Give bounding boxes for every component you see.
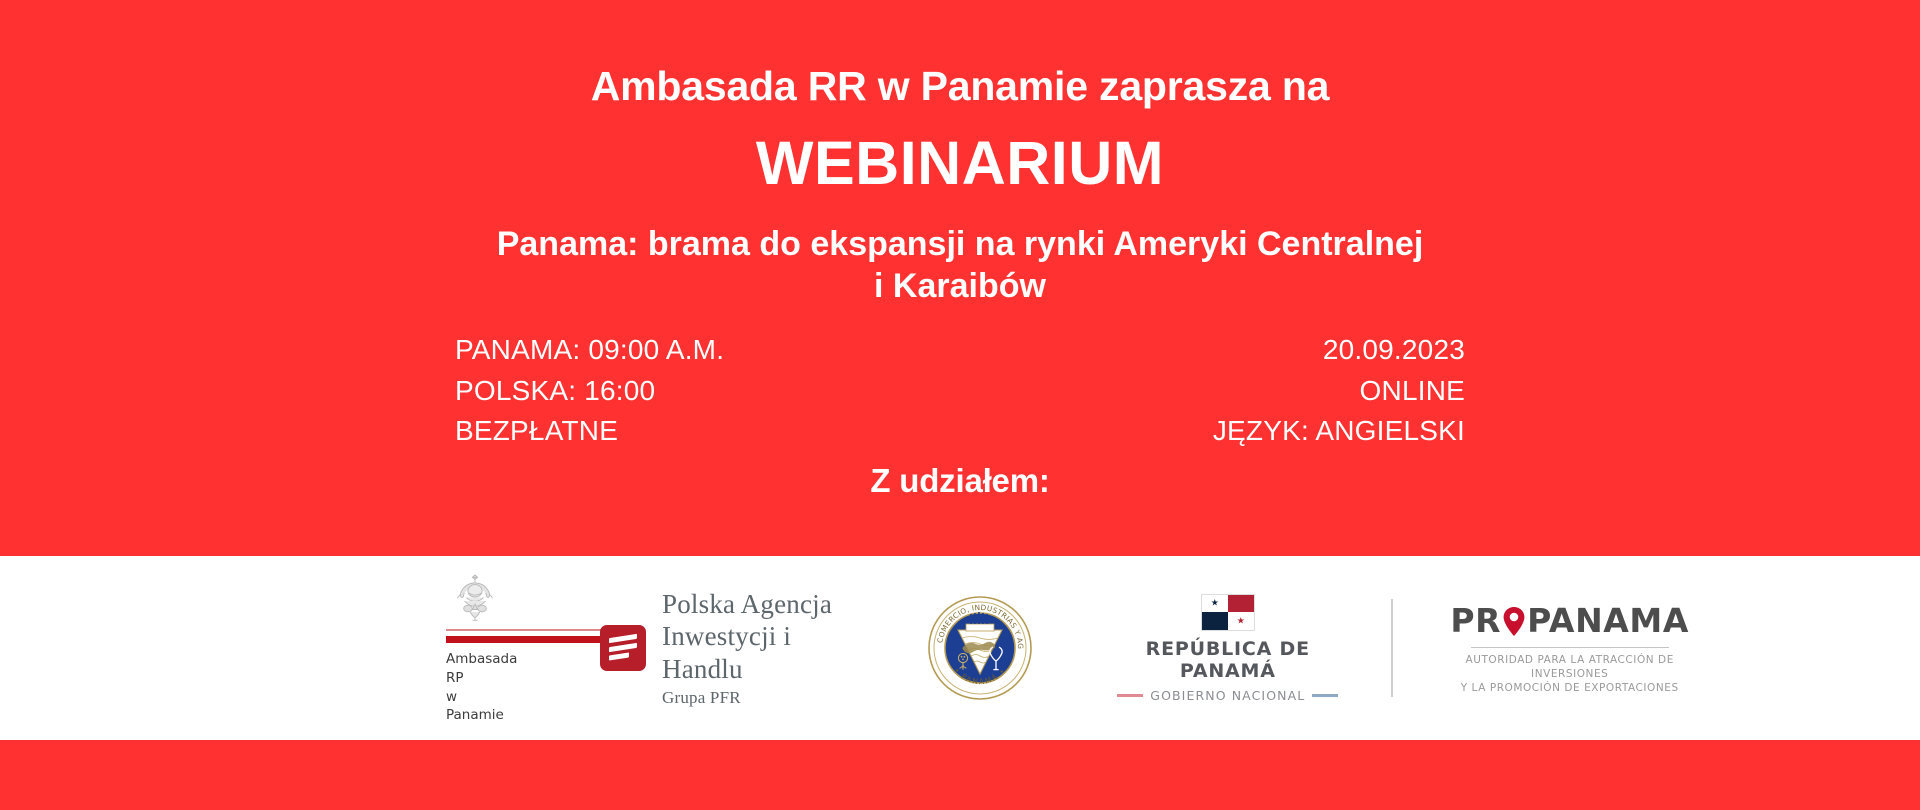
- detail-poland-time: POLSKA: 16:00: [455, 375, 724, 406]
- logo-divider: [1391, 599, 1393, 697]
- logo-propanama: PR PANAMA AUTORIDAD PARA LA ATRACCIÓN DE…: [1429, 601, 1710, 696]
- polish-eagle-icon: [452, 571, 498, 623]
- logo-embassy-of-poland: Ambasada RP w Panamie: [210, 571, 510, 725]
- detail-date: 20.09.2023: [1213, 334, 1465, 365]
- logo-republic-of-panama: ★ ★ REPÚBLICA DE PANAMÁ GOBIERNO NACIONA…: [1098, 594, 1357, 703]
- logo-chamber-of-commerce: CÁMARA DE COMERCIO, INDUSTRIAS Y AGRICUL…: [928, 596, 1032, 700]
- republic-subtitle-text: GOBIERNO NACIONAL: [1150, 688, 1305, 703]
- bottom-red-strip: [0, 740, 1920, 810]
- invitation-headline: Ambasada RR w Panamie zaprasza na: [460, 62, 1460, 110]
- detail-price: BEZPŁATNE: [455, 415, 724, 446]
- panama-flag-icon: ★ ★: [1201, 594, 1255, 631]
- paih-line1: Polska Agencja: [662, 588, 870, 620]
- paih-wordmark: Polska Agencja Inwestycji i Handlu Grupa…: [662, 588, 870, 708]
- map-pin-icon: [1502, 606, 1526, 637]
- embassy-caption-line1: Ambasada RP: [446, 650, 510, 687]
- detail-language: JĘZYK: ANGIELSKI: [1213, 415, 1465, 446]
- propanama-wordmark: PR PANAMA: [1429, 601, 1710, 640]
- event-details-right-column: 20.09.2023 ONLINE JĘZYK: ANGIELSKI: [1213, 334, 1465, 446]
- partner-logo-row: Ambasada RP w Panamie Polska Agencja Inw…: [210, 571, 1710, 725]
- propanama-tagline: AUTORIDAD PARA LA ATRACCIÓN DE INVERSION…: [1429, 653, 1710, 696]
- event-details: PANAMA: 09:00 A.M. POLSKA: 16:00 BEZPŁAT…: [455, 334, 1465, 446]
- event-details-left-column: PANAMA: 09:00 A.M. POLSKA: 16:00 BEZPŁAT…: [455, 334, 724, 446]
- with-participation-label: Z udziałem:: [0, 462, 1920, 500]
- chamber-seal-icon: CÁMARA DE COMERCIO, INDUSTRIAS Y AGRICUL…: [928, 596, 1032, 700]
- partner-logo-band: Ambasada RP w Panamie Polska Agencja Inw…: [0, 556, 1920, 740]
- hero-section: Ambasada RR w Panamie zaprasza na WEBINA…: [0, 0, 1920, 556]
- propanama-word-part1: PR: [1450, 601, 1501, 640]
- republic-subtitle: GOBIERNO NACIONAL: [1098, 688, 1357, 703]
- propanama-rule: [1471, 647, 1669, 648]
- logo-paih: Polska Agencja Inwestycji i Handlu Grupa…: [600, 588, 870, 708]
- webinar-poster: Ambasada RR w Panamie zaprasza na WEBINA…: [0, 0, 1920, 810]
- detail-panama-time: PANAMA: 09:00 A.M.: [455, 334, 724, 365]
- propanama-tagline-line2: Y LA PROMOCIÓN DE EXPORTACIONES: [1429, 681, 1710, 695]
- propanama-word-part2: PANAMA: [1527, 601, 1689, 640]
- paih-line2: Inwestycji i Handlu: [662, 620, 870, 685]
- embassy-caption-line2: w Panamie: [446, 688, 510, 725]
- republic-dash-red: [1117, 694, 1143, 697]
- paih-line3: Grupa PFR: [662, 688, 870, 708]
- republic-dash-blue: [1312, 694, 1338, 697]
- propanama-tagline-line1: AUTORIDAD PARA LA ATRACCIÓN DE INVERSION…: [1429, 653, 1710, 681]
- webinar-subject: Panama: brama do ekspansji na rynki Amer…: [495, 223, 1425, 309]
- embassy-caption: Ambasada RP w Panamie: [446, 650, 510, 725]
- page-title: WEBINARIUM: [0, 127, 1920, 200]
- detail-format: ONLINE: [1213, 375, 1465, 406]
- republic-name: REPÚBLICA DE PANAMÁ: [1098, 638, 1357, 682]
- paih-mark-icon: [600, 625, 646, 671]
